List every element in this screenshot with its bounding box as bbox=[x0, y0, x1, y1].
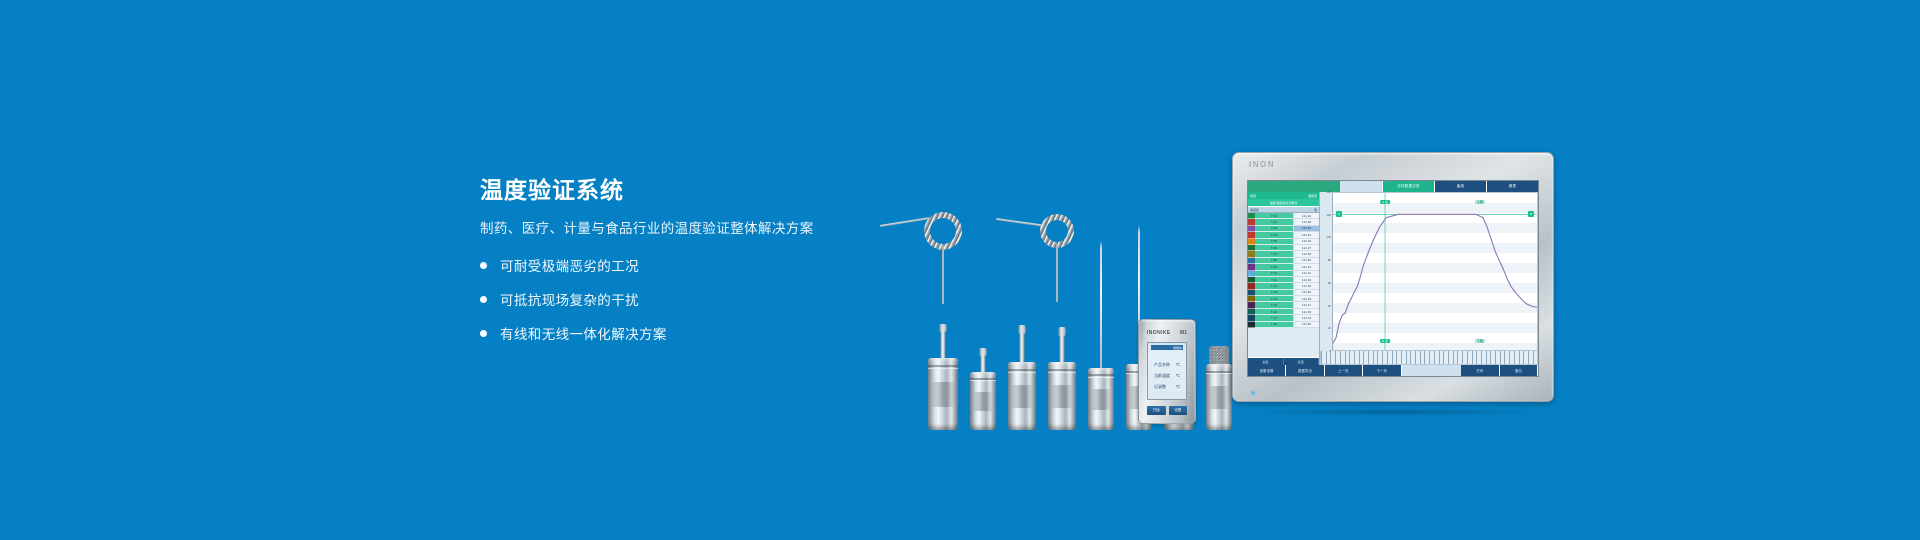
logger-label bbox=[1011, 385, 1034, 408]
toolbar-button[interactable]: 上一页 bbox=[1325, 365, 1363, 376]
panel-header: 通道 温度值 bbox=[1248, 192, 1319, 199]
reading-label: 记录数 bbox=[1154, 384, 1166, 390]
chart-annotation[interactable]: 上限 bbox=[1475, 200, 1485, 204]
axis-tick-label bbox=[1533, 351, 1538, 364]
monitor-brand-logo: INON bbox=[1249, 160, 1275, 169]
axis-tick-label: 0 bbox=[1329, 349, 1331, 353]
data-logger bbox=[928, 358, 958, 430]
handheld-readings: 产品名称 ℃ 当前温度 ℃ 记录数 ℃ bbox=[1151, 362, 1183, 390]
probe-cap bbox=[940, 324, 947, 332]
logger-body bbox=[1088, 368, 1114, 430]
mesh-filter-cap bbox=[1209, 346, 1229, 364]
channel-color-swatch bbox=[1248, 322, 1255, 328]
monitor-shadow bbox=[1240, 408, 1550, 416]
reading-row: 当前温度 ℃ bbox=[1151, 373, 1183, 379]
probe-stem bbox=[1060, 334, 1065, 362]
handheld-brand-row: INONIKE M1 bbox=[1147, 330, 1187, 336]
handheld-key-label: 设置 bbox=[1174, 408, 1181, 413]
reading-value: ℃ bbox=[1176, 384, 1181, 390]
monitor-display: INON 实时数据记录 曲线 报表 bbox=[1232, 152, 1554, 402]
reading-label: 产品名称 bbox=[1154, 362, 1170, 368]
channel-name: T 18 bbox=[1255, 322, 1293, 328]
axis-tick-label: 120 bbox=[1326, 213, 1331, 217]
toolbar-button[interactable]: 数据导出 bbox=[1286, 365, 1324, 376]
tab-report[interactable]: 报表 bbox=[1486, 181, 1538, 192]
feature-list: 可耐受极端恶劣的工况 可抵抗现场复杂的干扰 有线和无线一体化解决方案 bbox=[480, 255, 900, 343]
chart-area: 020406080100120140 A 点B 点AB上限下限 bbox=[1320, 192, 1538, 365]
chart-y-axis: 020406080100120140 bbox=[1320, 192, 1333, 351]
probe-lead bbox=[942, 246, 944, 304]
probe-lead bbox=[1056, 244, 1058, 302]
chart-plot-region: 020406080100120140 A 点B 点AB上限下限 bbox=[1320, 192, 1538, 351]
probe-cap bbox=[1059, 327, 1066, 336]
model-label: M1 bbox=[1180, 330, 1187, 336]
logger-body bbox=[1206, 364, 1232, 430]
chart-series-line bbox=[1333, 214, 1537, 343]
toolbar-button-label: 打印 bbox=[1476, 368, 1483, 373]
handheld-screen: 测量中 产品名称 ℃ 当前温度 ℃ 记录数 ℃ bbox=[1147, 342, 1187, 400]
humidity-logger bbox=[1206, 364, 1232, 430]
toolbar-button[interactable]: 打印 bbox=[1461, 365, 1499, 376]
chart-annotation[interactable]: A bbox=[1336, 211, 1342, 217]
toolbar-spacer bbox=[1402, 365, 1462, 376]
invert-selection-button[interactable]: 反选 bbox=[1284, 358, 1320, 365]
data-logger bbox=[970, 372, 996, 430]
panel-header-right: 温度值 bbox=[1308, 194, 1317, 198]
feature-label: 可耐受极端恶劣的工况 bbox=[500, 255, 639, 275]
select-all-button[interactable]: 全选 bbox=[1248, 358, 1284, 365]
channel-panel: 通道 温度值 温度/湿度验证记录仪 通道名 值 T 01121.42T 0212… bbox=[1248, 192, 1320, 365]
probe-cap bbox=[1019, 325, 1026, 334]
tab-realtime[interactable]: 实时数据记录 bbox=[1382, 181, 1434, 192]
channel-value: 121.50 bbox=[1293, 322, 1319, 328]
chart-annotation[interactable]: B 点 bbox=[1380, 339, 1390, 343]
software-body: 通道 温度值 温度/湿度验证记录仪 通道名 值 T 01121.42T 0212… bbox=[1248, 192, 1538, 365]
brand-logo: INONIKE bbox=[1147, 330, 1171, 336]
tab-label: 报表 bbox=[1509, 184, 1516, 189]
axis-tick-label: 20 bbox=[1328, 326, 1331, 330]
reading-row: 产品名称 ℃ bbox=[1151, 362, 1183, 368]
logger-body bbox=[1008, 362, 1036, 430]
probe-stem bbox=[941, 330, 946, 358]
bullet-dot-icon bbox=[480, 330, 487, 337]
chart-annotation[interactable]: B bbox=[1528, 211, 1534, 217]
toolbar-button[interactable]: 下一页 bbox=[1363, 365, 1401, 376]
logger-label bbox=[1208, 386, 1229, 408]
axis-tick-label: 100 bbox=[1326, 235, 1331, 239]
logger-label bbox=[931, 382, 956, 406]
bottom-toolbar: 参数设置数据导出上一页下一页打印退出 bbox=[1248, 365, 1538, 376]
reading-label: 当前温度 bbox=[1154, 373, 1170, 379]
top-toolbar: 实时数据记录 曲线 报表 bbox=[1248, 181, 1538, 192]
panel-subtitle: 温度/湿度验证记录仪 bbox=[1248, 199, 1319, 206]
toolbar-button-label: 上一页 bbox=[1338, 368, 1349, 373]
hero-banner: 温度验证系统 制药、医疗、计量与食品行业的温度验证整体解决方案 可耐受极端恶劣的… bbox=[0, 0, 1920, 540]
page-title: 温度验证系统 bbox=[480, 178, 900, 203]
panel-header-left: 通道 bbox=[1250, 194, 1256, 198]
list-item: 可抵抗现场复杂的干扰 bbox=[480, 289, 900, 309]
logger-label bbox=[1051, 385, 1074, 408]
data-logger bbox=[1008, 362, 1036, 430]
logger-body bbox=[928, 358, 958, 430]
toolbar-button-label: 数据导出 bbox=[1298, 368, 1312, 373]
list-item: 有线和无线一体化解决方案 bbox=[480, 323, 900, 343]
bullet-dot-icon bbox=[480, 296, 487, 303]
reading-value: ℃ bbox=[1176, 373, 1181, 379]
axis-tick-label: 40 bbox=[1328, 304, 1331, 308]
probe-coil bbox=[924, 212, 962, 250]
power-led-icon bbox=[1251, 391, 1255, 395]
channel-list[interactable]: T 01121.42T 02121.38T 03121.46T 04121.51… bbox=[1248, 213, 1319, 357]
coiled-probe-assembly bbox=[996, 210, 1116, 270]
data-logger bbox=[1048, 362, 1076, 430]
probe-wire bbox=[996, 218, 1044, 227]
toolbar-button-label: 参数设置 bbox=[1260, 368, 1274, 373]
software-screen: 实时数据记录 曲线 报表 通道 温度值 bbox=[1247, 180, 1539, 377]
status-badge: 测量中 bbox=[1173, 346, 1182, 350]
chart-plot[interactable]: A 点B 点AB上限下限 bbox=[1333, 192, 1538, 351]
logger-body bbox=[970, 372, 996, 430]
panel-column-headers: 通道名 值 bbox=[1248, 206, 1319, 213]
axis-tick-label: 140 bbox=[1326, 190, 1331, 194]
panel-footer: 全选 反选 bbox=[1248, 357, 1319, 365]
hero-copy: 温度验证系统 制药、医疗、计量与食品行业的温度验证整体解决方案 可耐受极端恶劣的… bbox=[480, 178, 900, 357]
bullet-dot-icon bbox=[480, 262, 487, 269]
chart-svg bbox=[1333, 193, 1537, 350]
tab-label: 实时数据记录 bbox=[1397, 184, 1419, 189]
toolbar-button[interactable]: 退出 bbox=[1500, 365, 1538, 376]
probe-stem bbox=[981, 354, 986, 372]
table-row[interactable]: T 18121.50 bbox=[1248, 322, 1319, 328]
column-header-value: 值 bbox=[1314, 208, 1317, 212]
probe-cap bbox=[980, 348, 987, 356]
handheld-key-label: 开始 bbox=[1153, 408, 1160, 413]
probe-wire bbox=[880, 217, 930, 227]
chart-annotation[interactable]: A 点 bbox=[1380, 200, 1390, 204]
data-logger bbox=[1088, 368, 1114, 430]
tab-label: 曲线 bbox=[1457, 184, 1464, 189]
logger-label bbox=[972, 392, 993, 412]
toolbar-button-label: 下一页 bbox=[1377, 368, 1388, 373]
handheld-reader[interactable]: INONIKE M1 测量中 产品名称 ℃ 当前温度 ℃ bbox=[1138, 319, 1196, 424]
feature-label: 有线和无线一体化解决方案 bbox=[500, 323, 667, 343]
needle-probe bbox=[1100, 240, 1102, 368]
coiled-probe-assembly bbox=[880, 208, 1010, 268]
reading-row: 记录数 ℃ bbox=[1151, 384, 1183, 390]
chart-annotation[interactable]: 下限 bbox=[1475, 339, 1485, 343]
handheld-start-button[interactable]: 开始 bbox=[1147, 406, 1166, 415]
handheld-keypad: 开始 设置 bbox=[1147, 406, 1187, 415]
tab-curve[interactable]: 曲线 bbox=[1434, 181, 1486, 192]
toolbar-spacer bbox=[1340, 181, 1382, 192]
product-group: INONIKE M1 测量中 产品名称 ℃ 当前温度 ℃ bbox=[880, 130, 1560, 430]
page-subtitle: 制药、医疗、计量与食品行业的温度验证整体解决方案 bbox=[480, 217, 900, 237]
handheld-status-bar: 测量中 bbox=[1151, 345, 1183, 350]
toolbar-button[interactable]: 参数设置 bbox=[1248, 365, 1286, 376]
reading-value: ℃ bbox=[1176, 362, 1181, 368]
probe-coil bbox=[1040, 214, 1074, 248]
list-item: 可耐受极端恶劣的工况 bbox=[480, 255, 900, 275]
logger-label bbox=[1090, 389, 1111, 410]
feature-label: 可抵抗现场复杂的干扰 bbox=[500, 289, 639, 309]
axis-tick-label: 60 bbox=[1328, 281, 1331, 285]
handheld-settings-button[interactable]: 设置 bbox=[1169, 406, 1188, 415]
chart-x-axis bbox=[1320, 351, 1538, 365]
column-header-name: 通道名 bbox=[1250, 208, 1259, 212]
probe-stem bbox=[1020, 332, 1025, 362]
toolbar-button-label: 退出 bbox=[1515, 368, 1522, 373]
axis-tick-label: 80 bbox=[1328, 258, 1331, 262]
logger-body bbox=[1048, 362, 1076, 430]
